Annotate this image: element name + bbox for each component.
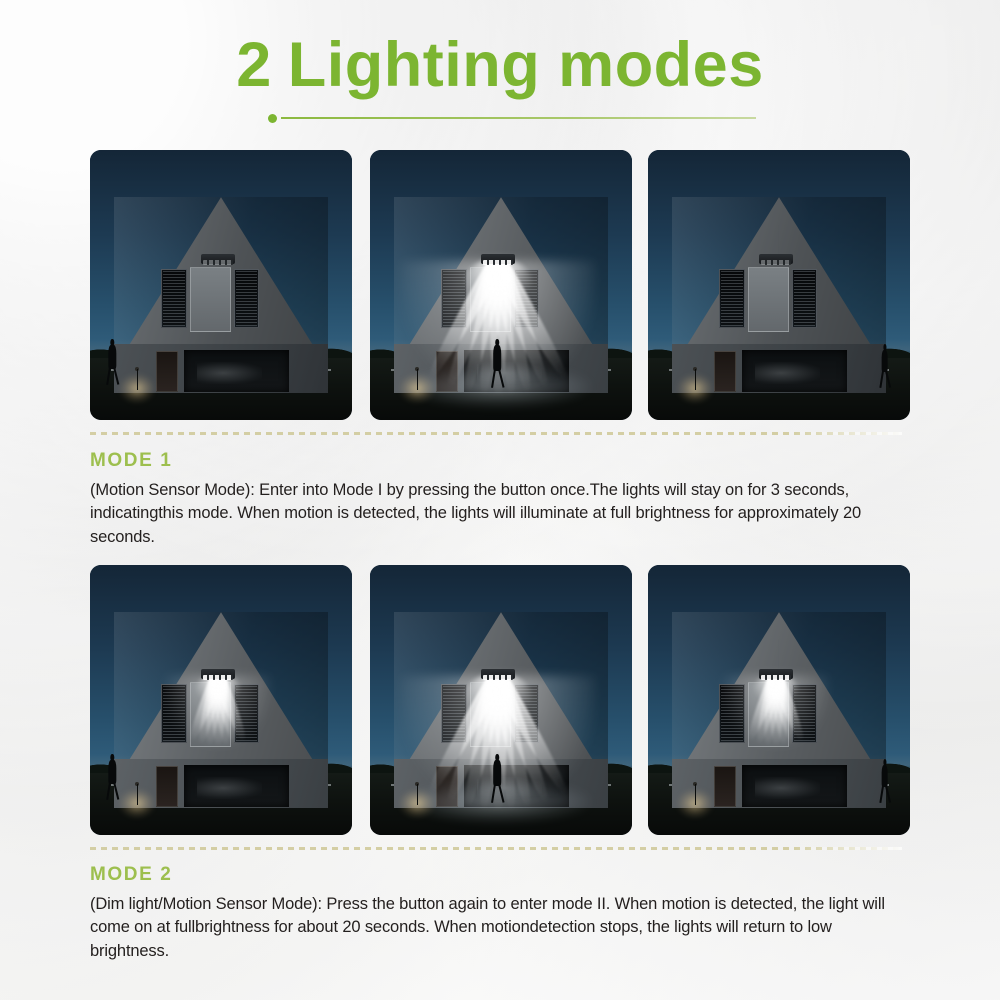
mode-1-label: MODE 1: [90, 450, 920, 472]
person-silhouette: [879, 344, 891, 387]
mode-1-text-block: MODE 1 (Motion Sensor Mode): Enter into …: [90, 450, 920, 549]
photo-lights-dim-person-right: [648, 565, 910, 835]
divider-mode-1: [90, 432, 902, 435]
mode-2-image-row: [90, 565, 910, 835]
mode-1-image-row: [90, 150, 910, 420]
page-title-text: Lighting modes: [288, 30, 764, 100]
photo-lights-dim-person-left: [90, 565, 352, 835]
person-silhouette: [106, 339, 119, 385]
photo-lights-off-person-left: [90, 150, 352, 420]
person-silhouette: [491, 339, 505, 388]
photo-lights-off-person-right: [648, 150, 910, 420]
path-light-icon: [415, 781, 420, 805]
wall-light-fixture-icon: [201, 669, 235, 679]
wall-light-fixture-icon: [759, 669, 793, 679]
mode-2-description: (Dim light/Motion Sensor Mode): Press th…: [90, 893, 908, 963]
divider-mode-2: [90, 847, 902, 850]
mode-2-text-block: MODE 2 (Dim light/Motion Sensor Mode): P…: [90, 864, 920, 963]
photo-lights-full-person-center-2: [370, 565, 632, 835]
path-light-icon: [693, 781, 698, 805]
person-silhouette: [106, 754, 119, 800]
wall-light-fixture-icon: [759, 254, 793, 264]
mode-2-label: MODE 2: [90, 864, 920, 886]
path-light-icon: [693, 366, 698, 390]
person-silhouette: [491, 754, 505, 803]
path-light-icon: [415, 366, 420, 390]
page-title-number: 2: [236, 30, 272, 100]
wall-light-fixture-icon: [201, 254, 235, 264]
title-bullet-dot: [268, 114, 277, 123]
page-title: 2Lighting modes: [0, 34, 1000, 97]
path-light-icon: [135, 781, 140, 805]
person-silhouette: [879, 759, 891, 802]
wall-light-fixture-icon: [481, 669, 515, 679]
title-underline: [268, 114, 756, 122]
title-rule-line: [281, 117, 756, 119]
path-light-icon: [135, 366, 140, 390]
mode-1-description: (Motion Sensor Mode): Enter into Mode I …: [90, 479, 908, 549]
photo-lights-full-person-center: [370, 150, 632, 420]
wall-light-fixture-icon: [481, 254, 515, 264]
